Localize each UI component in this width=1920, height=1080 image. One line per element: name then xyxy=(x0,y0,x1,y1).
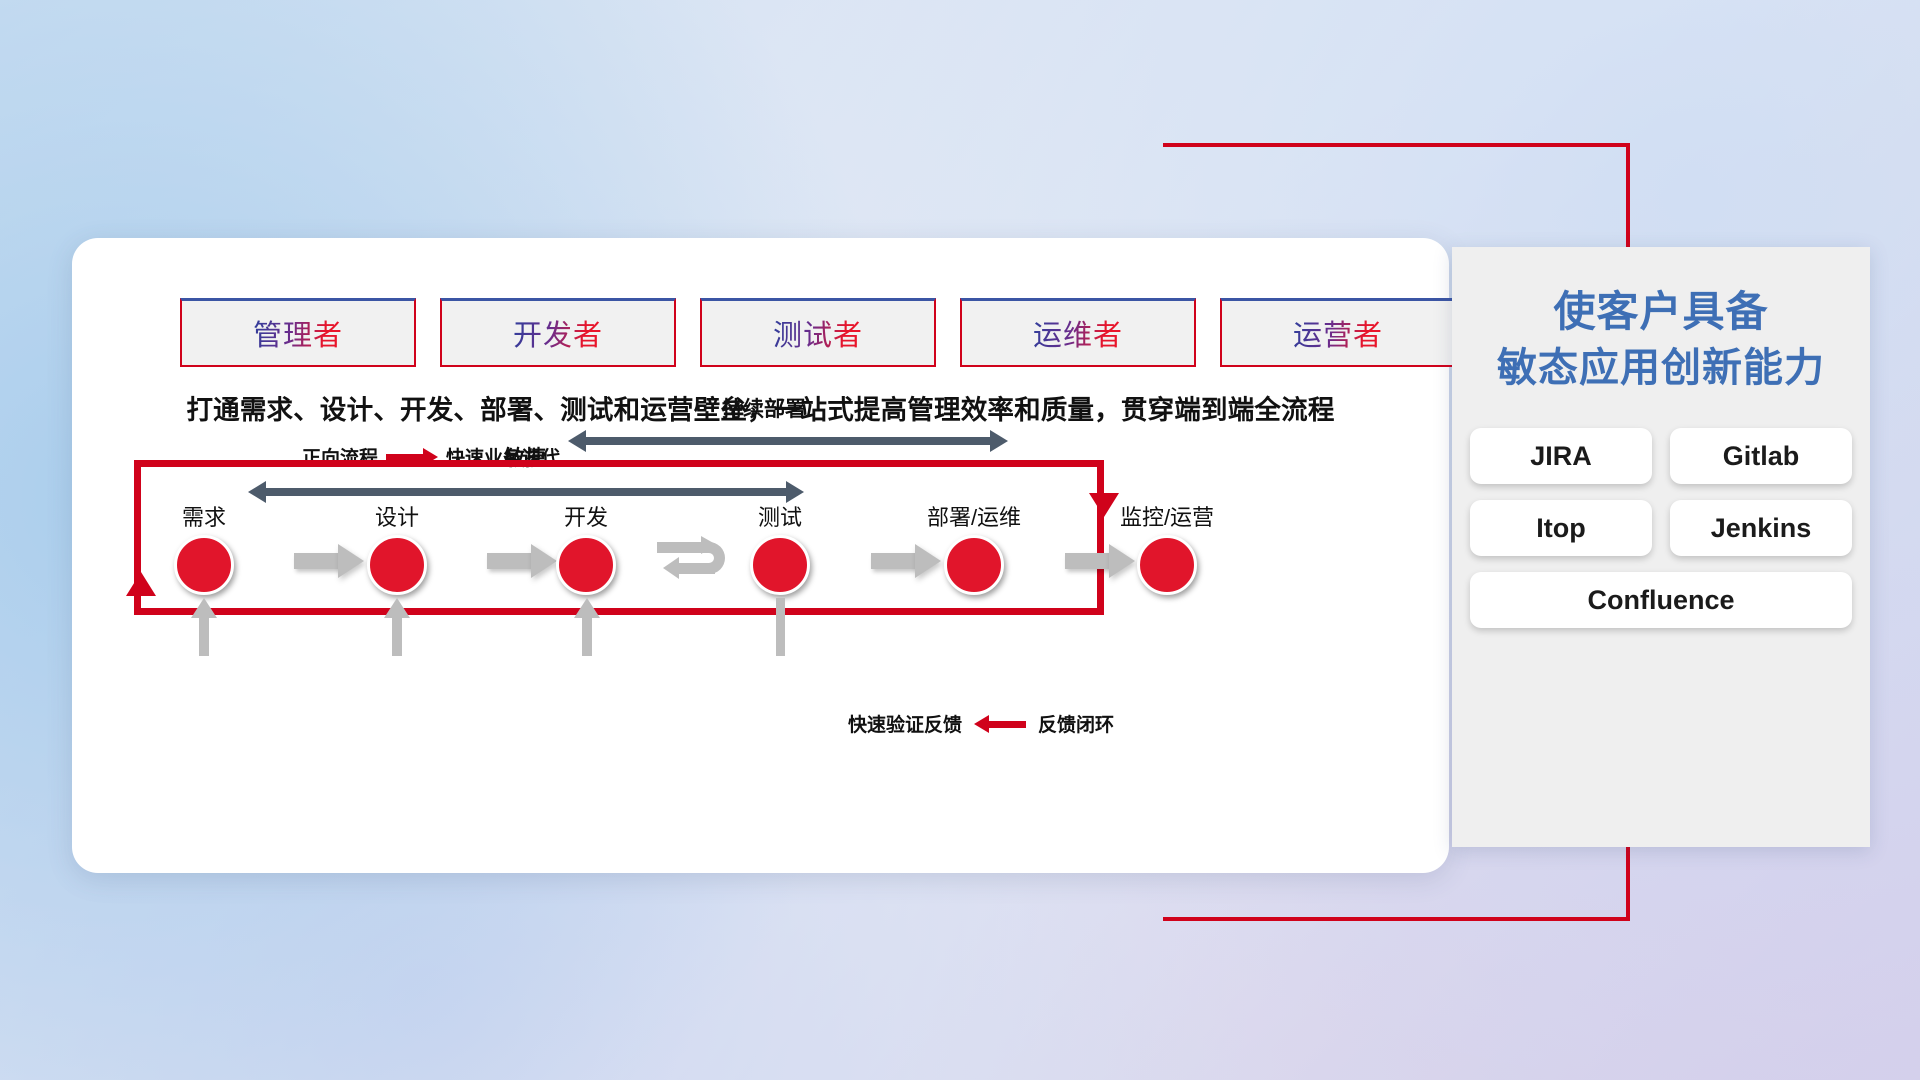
side-panel: 使客户具备 敏态应用创新能力 JIRA Gitlab Itop Jenkins … xyxy=(1452,247,1870,847)
tool-card-gitlab[interactable]: Gitlab xyxy=(1670,428,1852,484)
stage-label: 监控/运营 xyxy=(1107,500,1227,532)
up-arrow-shaft xyxy=(392,612,402,656)
arrow-bar xyxy=(582,437,994,445)
role-box-operations[interactable]: 运营者 xyxy=(1220,298,1456,367)
main-diagram-card: 管理者 开发者 测试者 运维者 运营者 打通需求、设计、开发、部署、测试和运营壁… xyxy=(72,238,1449,873)
stage-dot-icon xyxy=(174,535,234,595)
side-panel-title-line1: 使客户具备 xyxy=(1452,283,1870,341)
stage-label: 部署/运维 xyxy=(914,500,1034,532)
stage-label: 测试 xyxy=(720,500,840,532)
arrow-shaft xyxy=(1065,553,1111,569)
side-panel-title-line2: 敏态应用创新能力 xyxy=(1452,341,1870,396)
tool-card-jenkins[interactable]: Jenkins xyxy=(1670,500,1852,556)
stage-dot-icon xyxy=(944,535,1004,595)
tool-card-jira[interactable]: JIRA xyxy=(1470,428,1652,484)
role-box-ops[interactable]: 运维者 xyxy=(960,298,1196,367)
legend-feedback-loop: 快速验证反馈 反馈闭环 xyxy=(848,710,1114,737)
pipeline-stage-testing[interactable]: 测试 xyxy=(720,500,840,595)
arrow-shaft xyxy=(294,553,340,569)
pipeline-row: 需求 设计 开发 xyxy=(134,500,1224,630)
tool-card-itop[interactable]: Itop xyxy=(1470,500,1652,556)
role-label: 测试者 xyxy=(773,312,863,354)
stage-label: 开发 xyxy=(526,500,646,532)
arrow-shaft xyxy=(871,553,917,569)
feedback-stem-testing-icon xyxy=(776,598,785,656)
role-label: 运营者 xyxy=(1293,312,1383,354)
tool-card-confluence[interactable]: Confluence xyxy=(1470,572,1852,628)
stage-dot-icon xyxy=(556,535,616,595)
up-arrow-shaft xyxy=(582,612,592,656)
role-box-row: 管理者 开发者 测试者 运维者 运营者 xyxy=(180,298,1456,367)
pipeline-stage-requirement[interactable]: 需求 xyxy=(144,500,264,595)
arrow-left-red-icon xyxy=(974,715,1026,733)
pipeline-stage-design[interactable]: 设计 xyxy=(337,500,457,595)
role-label: 开发者 xyxy=(513,312,603,354)
legend-feedback-right-label: 反馈闭环 xyxy=(1038,710,1114,737)
span-label-continuous-deployment: 持续部署 xyxy=(722,393,806,423)
stage-dot-icon xyxy=(750,535,810,595)
role-box-tester[interactable]: 测试者 xyxy=(700,298,936,367)
stage-dot-icon xyxy=(367,535,427,595)
arrow-head-right-icon xyxy=(990,430,1008,452)
role-label: 运维者 xyxy=(1033,312,1123,354)
span-arrow-continuous-deployment xyxy=(568,430,1008,452)
stage-label: 需求 xyxy=(144,500,264,532)
pipeline-stage-monitor-operations[interactable]: 监控/运营 xyxy=(1107,500,1227,595)
legend-feedback-left-label: 快速验证反馈 xyxy=(848,710,962,737)
side-panel-title: 使客户具备 敏态应用创新能力 xyxy=(1452,247,1870,396)
role-box-manager[interactable]: 管理者 xyxy=(180,298,416,367)
stage-dot-icon xyxy=(1137,535,1197,595)
role-box-developer[interactable]: 开发者 xyxy=(440,298,676,367)
stage-label: 设计 xyxy=(337,500,457,532)
role-label: 管理者 xyxy=(253,312,343,354)
pipeline-stage-development[interactable]: 开发 xyxy=(526,500,646,595)
tool-card-grid: JIRA Gitlab Itop Jenkins Confluence xyxy=(1470,428,1852,628)
pipeline-stage-deploy-ops[interactable]: 部署/运维 xyxy=(914,500,1034,595)
up-arrow-shaft xyxy=(199,612,209,656)
